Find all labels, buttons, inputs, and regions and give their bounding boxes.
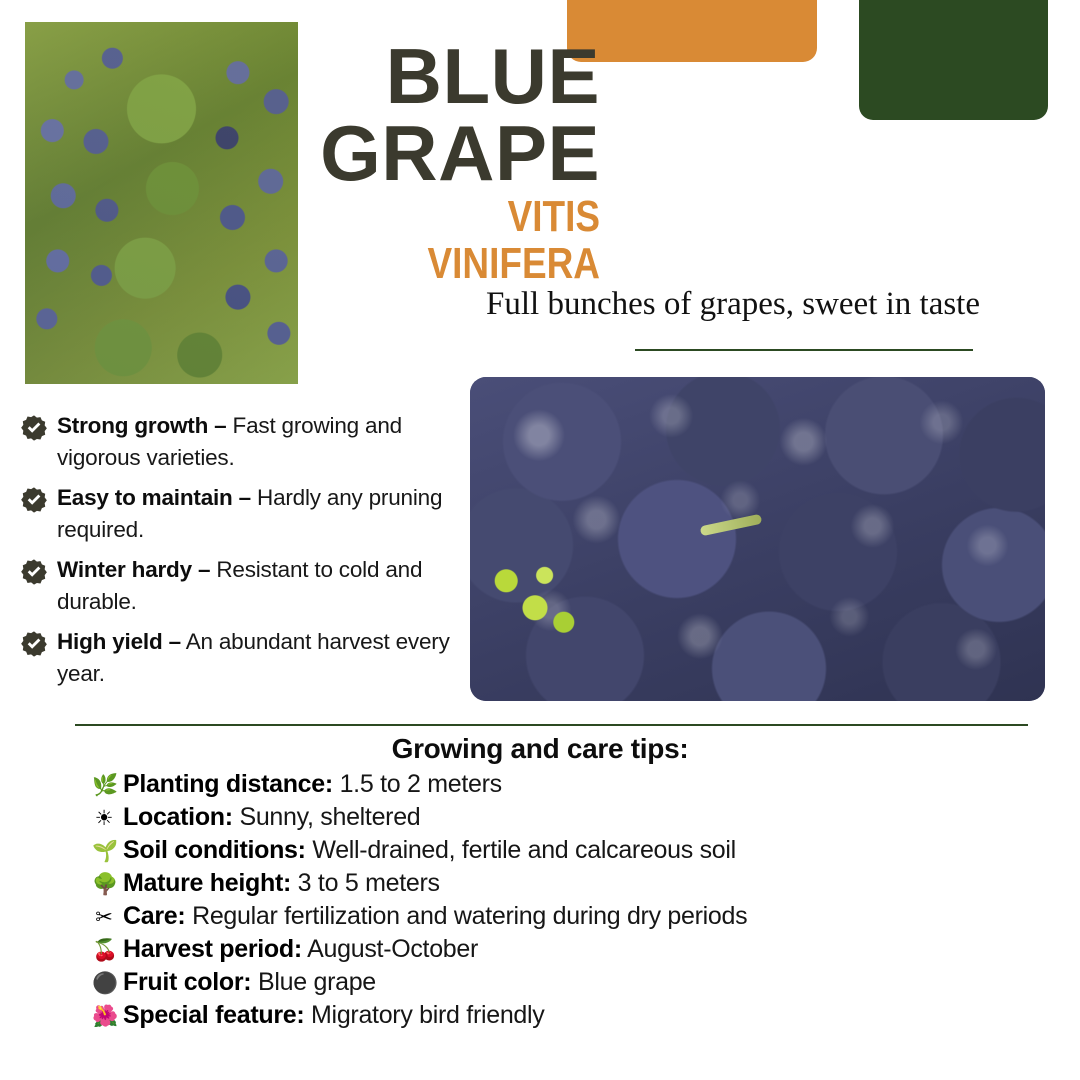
herb-icon: 🌿	[92, 775, 116, 796]
list-item-label: Care:	[123, 902, 185, 930]
list-item: 🌳 Mature height: 3 to 5 meters	[92, 868, 1052, 901]
list-item-text: Easy to maintain – Hardly any pruning re…	[57, 482, 470, 546]
hibiscus-icon: 🌺	[92, 1006, 116, 1027]
title-line-1: BLUE	[300, 38, 600, 115]
list-item: 🌺 Special feature: Migratory bird friend…	[92, 1000, 1052, 1033]
list-item-label: Special feature:	[123, 1001, 304, 1029]
list-item-text: High yield – An abundant harvest every y…	[57, 626, 470, 690]
list-item: Easy to maintain – Hardly any pruning re…	[20, 482, 470, 546]
list-item-value: 1.5 to 2 meters	[333, 770, 502, 798]
list-item-label: Strong growth –	[57, 413, 227, 438]
list-item-label: Mature height:	[123, 869, 291, 897]
list-item-label: Winter hardy –	[57, 557, 210, 582]
list-item-value: August-October	[302, 935, 478, 963]
list-item-text: Mature height: 3 to 5 meters	[123, 868, 440, 899]
list-item-label: Harvest period:	[123, 935, 302, 963]
sun-icon: ☀	[92, 808, 116, 829]
black-circle-icon: ⚫	[92, 973, 116, 994]
tips-heading: Growing and care tips:	[75, 733, 1005, 765]
list-item-value: 3 to 5 meters	[291, 869, 440, 897]
grapes-on-vine-photo	[25, 22, 298, 384]
page-title: BLUE GRAPE VITIS VINIFERA	[300, 38, 600, 287]
list-item-label: Planting distance:	[123, 770, 333, 798]
list-item: 🌿 Planting distance: 1.5 to 2 meters	[92, 769, 1052, 802]
title-line-2: GRAPE	[300, 115, 600, 192]
list-item-text: Special feature: Migratory bird friendly	[123, 1000, 545, 1031]
check-badge-icon	[20, 630, 48, 658]
cherries-icon: 🍒	[92, 940, 116, 961]
list-item-text: Planting distance: 1.5 to 2 meters	[123, 769, 502, 800]
list-item-text: Care: Regular fertilization and watering…	[123, 901, 747, 932]
check-badge-icon	[20, 558, 48, 586]
list-item-label: High yield –	[57, 629, 181, 654]
list-item: ☀ Location: Sunny, sheltered	[92, 802, 1052, 835]
green-decor-block	[859, 0, 1048, 120]
list-item-text: Harvest period: August-October	[123, 934, 478, 965]
list-item: ⚫ Fruit color: Blue grape	[92, 967, 1052, 1000]
list-item-value: Regular fertilization and watering durin…	[185, 902, 747, 930]
vine-illustration	[25, 22, 298, 384]
orange-decor-block	[567, 0, 817, 62]
tips-list: 🌿 Planting distance: 1.5 to 2 meters ☀ L…	[92, 769, 1052, 1033]
blue-grapes-closeup-photo	[470, 377, 1045, 701]
list-item-text: Fruit color: Blue grape	[123, 967, 376, 998]
list-item-value: Migratory bird friendly	[304, 1001, 544, 1029]
check-badge-icon	[20, 414, 48, 442]
list-item-value: Sunny, sheltered	[233, 803, 421, 831]
tagline-divider	[635, 349, 973, 351]
seedling-icon: 🌱	[92, 841, 116, 862]
list-item-label: Location:	[123, 803, 233, 831]
tips-divider	[75, 724, 1028, 726]
list-item-text: Location: Sunny, sheltered	[123, 802, 420, 833]
list-item-value: Blue grape	[251, 968, 376, 996]
list-item-text: Strong growth – Fast growing and vigorou…	[57, 410, 470, 474]
check-badge-icon	[20, 486, 48, 514]
list-item: High yield – An abundant harvest every y…	[20, 626, 470, 690]
list-item-text: Winter hardy – Resistant to cold and dur…	[57, 554, 470, 618]
list-item-label: Soil conditions:	[123, 836, 306, 864]
tree-icon: 🌳	[92, 874, 116, 895]
list-item: Strong growth – Fast growing and vigorou…	[20, 410, 470, 474]
feature-list: Strong growth – Fast growing and vigorou…	[20, 410, 470, 698]
list-item-label: Easy to maintain –	[57, 485, 251, 510]
grape-cluster-illustration	[470, 377, 1045, 701]
list-item: 🍒 Harvest period: August-October	[92, 934, 1052, 967]
scissors-icon: ✂	[92, 907, 116, 928]
list-item: Winter hardy – Resistant to cold and dur…	[20, 554, 470, 618]
grape-infographic-poster: BLUE GRAPE VITIS VINIFERA Full bunches o…	[0, 0, 1080, 1080]
list-item: ✂ Care: Regular fertilization and wateri…	[92, 901, 1052, 934]
latin-name-subtitle: VITIS VINIFERA	[348, 194, 600, 286]
list-item-text: Soil conditions: Well-drained, fertile a…	[123, 835, 736, 866]
tagline: Full bunches of grapes, sweet in taste	[380, 286, 980, 323]
list-item-label: Fruit color:	[123, 968, 251, 996]
list-item-value: Well-drained, fertile and calcareous soi…	[306, 836, 736, 864]
list-item: 🌱 Soil conditions: Well-drained, fertile…	[92, 835, 1052, 868]
